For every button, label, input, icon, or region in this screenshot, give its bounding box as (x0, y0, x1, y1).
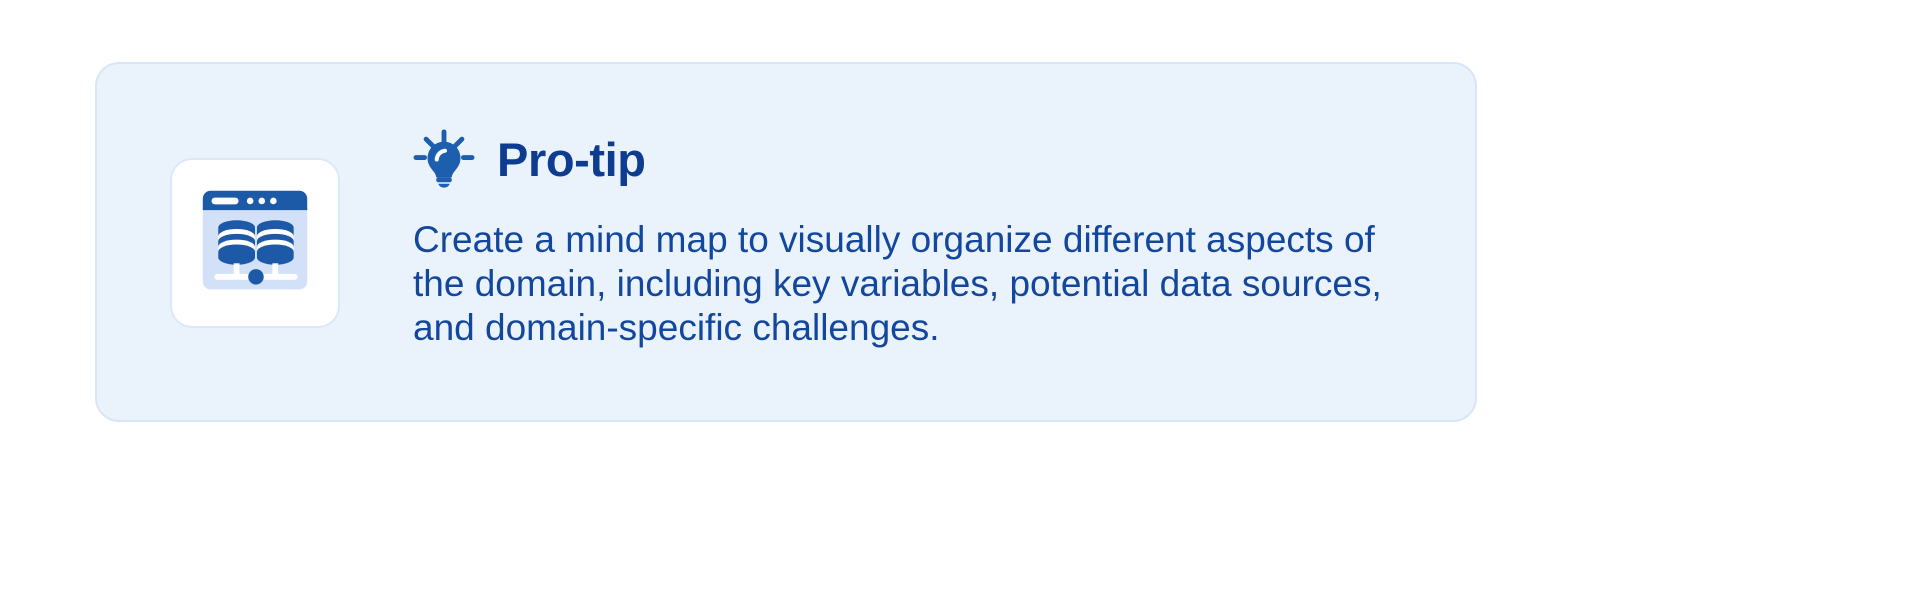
callout-body-text: Create a mind map to visually organize d… (413, 218, 1413, 350)
pro-tip-callout-card: Pro-tip Create a mind map to visually or… (95, 62, 1477, 422)
page-title: Pro-tip (497, 136, 646, 183)
callout-heading-row: Pro-tip (413, 122, 1423, 196)
lightbulb-idea-icon (413, 128, 475, 190)
database-browser-window-icon (197, 185, 313, 301)
page-root: Pro-tip Create a mind map to visually or… (0, 0, 1920, 600)
illustration-tile (170, 158, 340, 328)
callout-content: Pro-tip Create a mind map to visually or… (413, 122, 1423, 350)
